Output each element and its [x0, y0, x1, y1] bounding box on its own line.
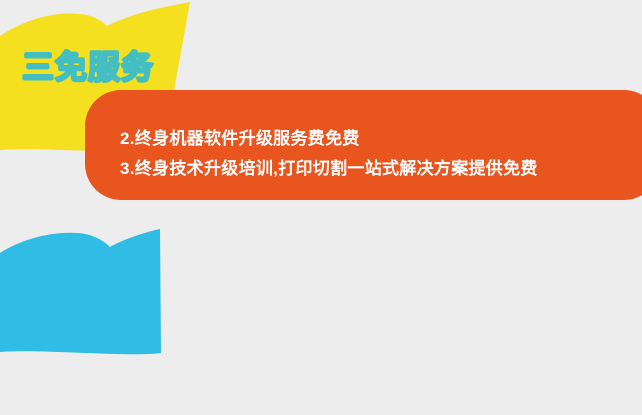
free-service-line-2: 3.终身技术升级培训,打印切割一站式解决方案提供免费: [120, 154, 538, 179]
section-free-service: 三免服务 2.终身机器软件升级服务费免费 3.终身技术升级培训,打印切割一站式解…: [0, 0, 642, 210]
free-service-line-1: 2.终身机器软件升级服务费免费: [120, 124, 360, 149]
blue-ribbon-shape: [0, 228, 642, 415]
promo-poster: 三免服务 2.终身机器软件升级服务费免费 3.终身技术升级培训,打印切割一站式解…: [0, 0, 642, 415]
free-service-title: 三免服务: [22, 42, 154, 88]
section-policy: 优惠政策 1．推荐购机，延保三年 2．二次购机，金融免息 3．新购机器，质保三年: [0, 228, 642, 415]
